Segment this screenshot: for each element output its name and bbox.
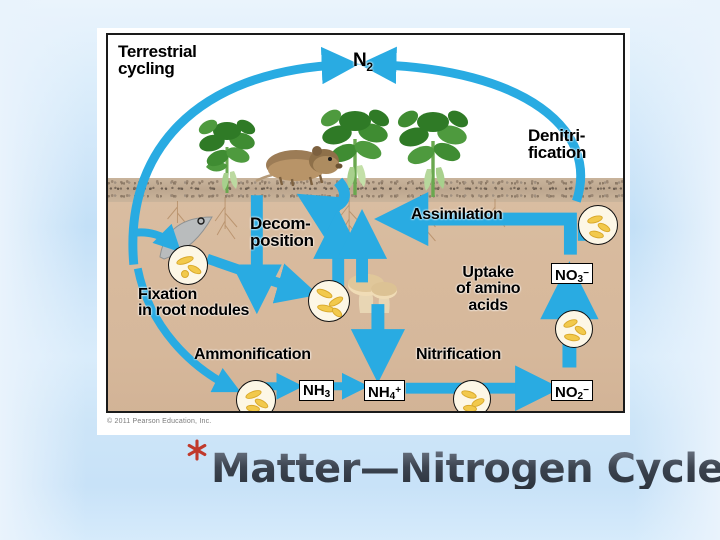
slide: Terrestrial cycling N2 Denitri- fication… xyxy=(0,0,720,540)
chem-box-no3: NO3− xyxy=(551,263,593,284)
asterisk-bullet-icon xyxy=(185,438,209,462)
chem-box-no2: NO2− xyxy=(551,380,593,401)
decomposer-bacteria-icon xyxy=(308,280,350,322)
label-nitrification: Nitrification xyxy=(416,347,501,363)
label-uptake-of-amino-acids: Uptake of amino acids xyxy=(456,265,520,314)
label-n2: N2 xyxy=(353,51,373,73)
copyright-notice: © 2011 Pearson Education, Inc. xyxy=(107,418,211,425)
chem-box-nh4: NH4+ xyxy=(364,380,405,401)
page-title: Matter—Nitrogen Cycle xyxy=(211,449,720,489)
label-ammonification: Ammonification xyxy=(194,347,311,363)
denitrifying-bacteria-icon xyxy=(578,205,618,245)
nitrifying-bacteria-no2-to-no3-icon xyxy=(555,310,593,348)
chem-box-nh3: NH3 xyxy=(299,380,334,401)
label-decomposition: Decom- position xyxy=(250,215,314,250)
label-fixation-in-root-nodules: Fixation in root nodules xyxy=(138,287,249,320)
slide-title-row: Matter—Nitrogen Cycle xyxy=(185,440,715,498)
nitrifying-bacteria-nh4-to-no2-icon xyxy=(453,380,491,413)
figure-card: Terrestrial cycling N2 Denitri- fication… xyxy=(97,28,630,435)
nitrogen-cycle-diagram: Terrestrial cycling N2 Denitri- fication… xyxy=(106,33,625,413)
label-assimilation: Assimilation xyxy=(411,207,503,223)
nitrogen-fixing-bacteria-nodule-icon xyxy=(168,245,208,285)
label-denitrification: Denitri- fication xyxy=(528,127,586,162)
cycle-arrows xyxy=(108,35,623,411)
label-terrestrial-cycling: Terrestrial cycling xyxy=(118,43,197,78)
ammonifying-bacteria-icon xyxy=(236,380,276,413)
